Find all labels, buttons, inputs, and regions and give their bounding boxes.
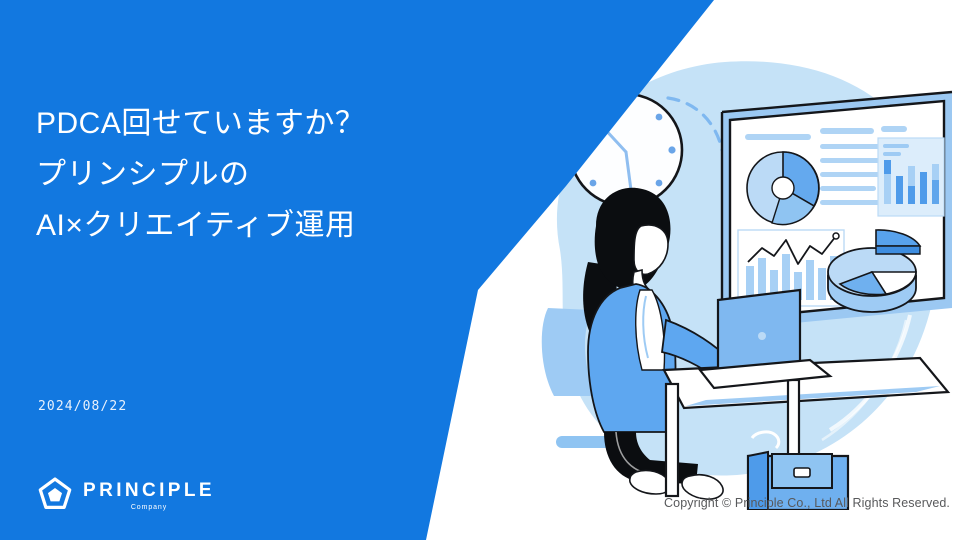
title-line-3: AI×クリエイティブ運用: [36, 200, 456, 251]
page-title: PDCA回せていますか？ プリンシプルの AI×クリエイティブ運用: [36, 98, 456, 251]
slide-date: 2024/08/22: [38, 399, 127, 414]
blue-diagonal-panel: [0, 0, 960, 540]
title-line-1: PDCA回せていますか？: [36, 98, 456, 149]
logo-wordmark: PRINCIPLE: [83, 481, 215, 500]
copyright-text: Copyright © Principle Co., Ltd All Right…: [664, 496, 950, 510]
title-line-2: プリンシプルの: [36, 149, 456, 200]
logo-subtitle: Company: [131, 504, 167, 511]
logo-text: PRINCIPLE Company: [83, 479, 215, 511]
pentagon-logo-icon: [36, 476, 74, 514]
principle-logo: PRINCIPLE Company: [36, 476, 215, 514]
presentation-slide: PDCA回せていますか？ プリンシプルの AI×クリエイティブ運用 2024/0…: [0, 0, 960, 540]
